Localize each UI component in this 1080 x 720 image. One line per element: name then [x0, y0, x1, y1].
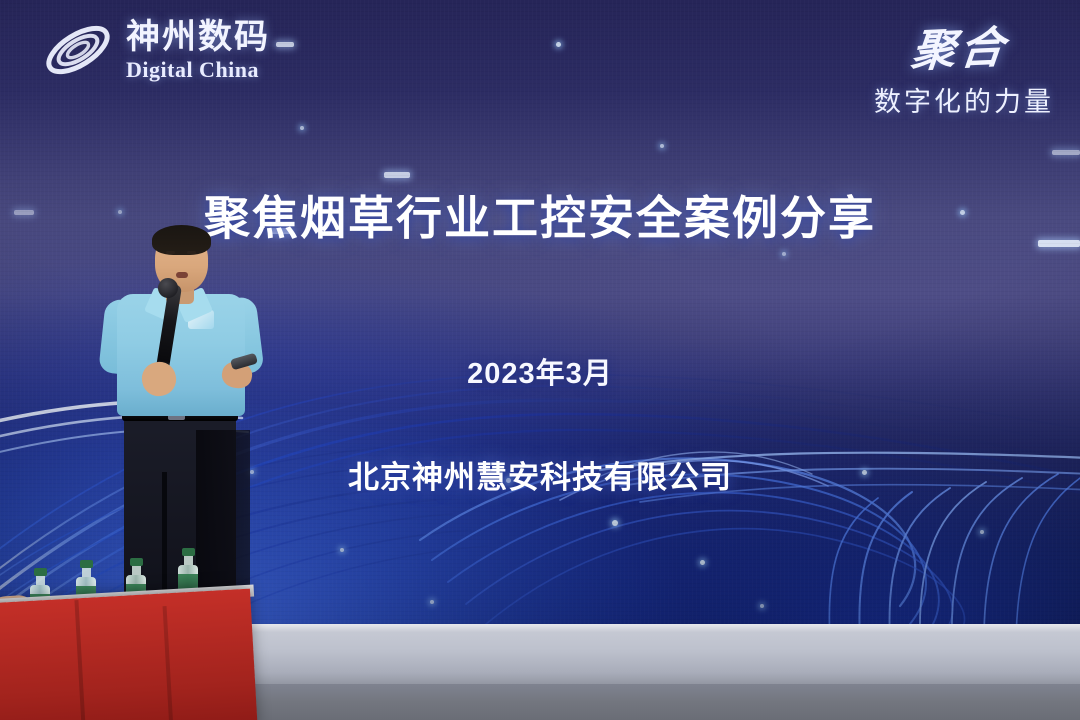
speaker-eye-right	[187, 251, 196, 254]
brand-name-cn: 神州数码	[126, 20, 270, 54]
slogan-headline: 聚合	[871, 11, 1012, 81]
bottle-neck	[82, 568, 91, 577]
bottle-neck	[36, 576, 45, 585]
bottle-cap	[182, 548, 195, 556]
brand-name-en: Digital China	[126, 59, 270, 81]
bottle-neck	[184, 556, 193, 565]
bottle-neck	[132, 566, 141, 575]
table-drape	[0, 589, 258, 720]
screenshot-root: 神州数码 Digital China 聚合 数字化的力量 聚焦烟草行业工控安全案…	[0, 0, 1080, 720]
speaker-mouth	[176, 272, 188, 278]
event-slogan: 聚合 数字化的力量	[874, 14, 1054, 119]
speaker-hair	[152, 225, 211, 255]
speaker-eye-left	[166, 251, 175, 254]
bottle-cap	[80, 560, 93, 568]
bottle-cap	[130, 558, 143, 566]
bottle-cap	[34, 568, 47, 576]
swirl-spiral-icon	[40, 18, 116, 82]
brand-logo: 神州数码 Digital China	[40, 18, 270, 82]
slogan-subline: 数字化的力量	[874, 80, 1054, 119]
